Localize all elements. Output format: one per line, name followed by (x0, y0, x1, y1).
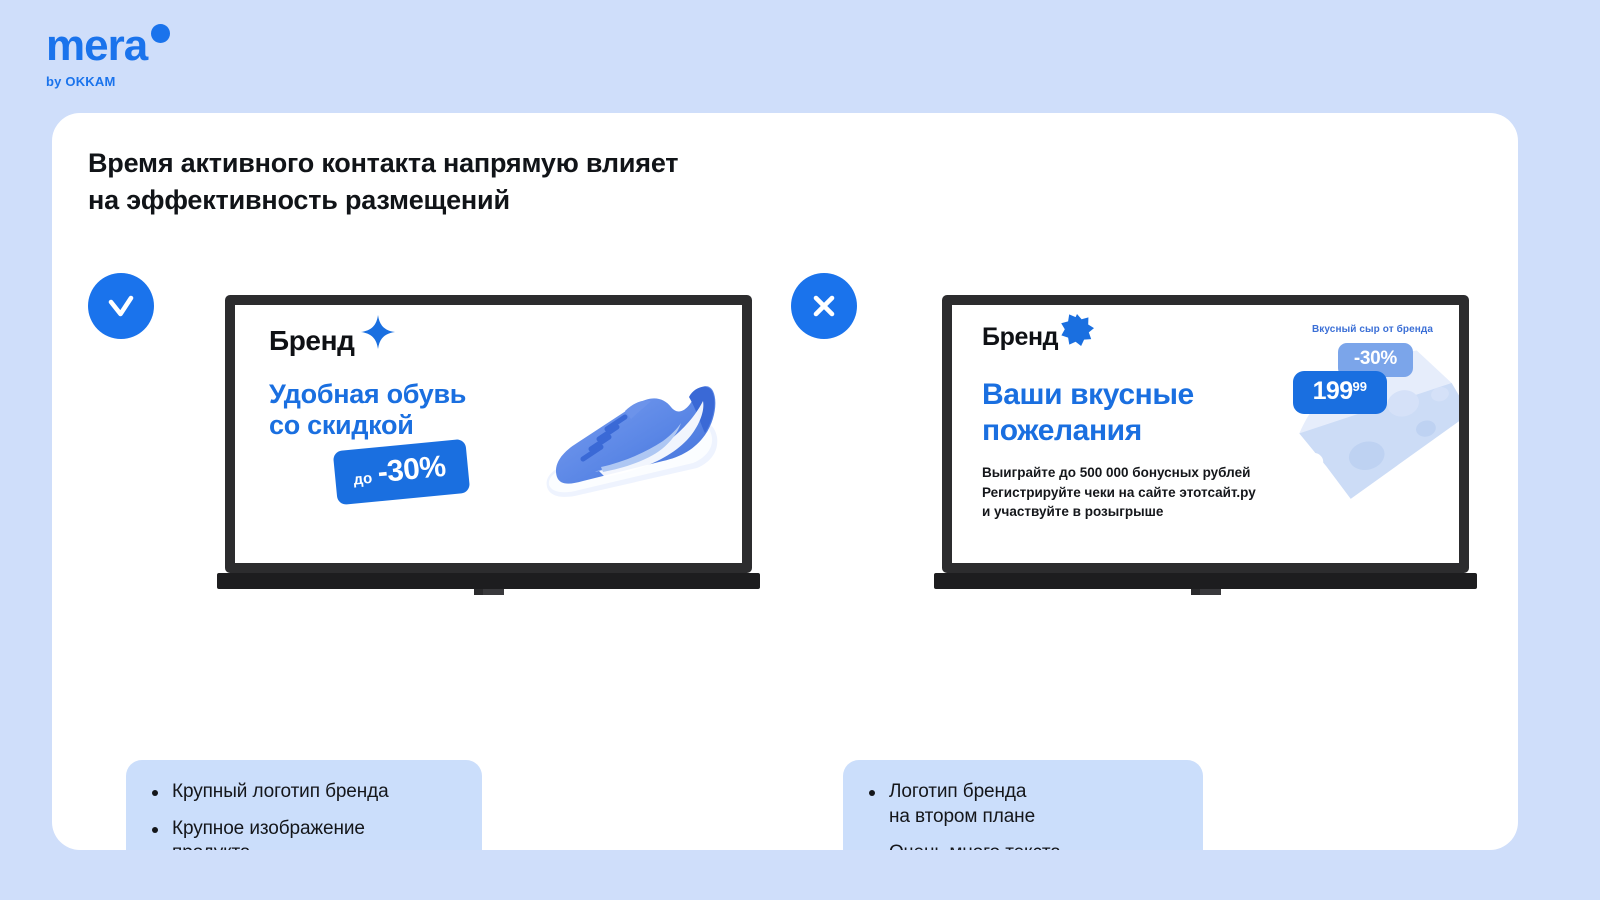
logo-wordmark: mera (46, 22, 266, 70)
creative-headline: Удобная обувь со скидкой (269, 379, 569, 442)
creative-brand-label: Бренд (982, 323, 1058, 352)
creative-brand-lockup: Бренд (982, 323, 1094, 352)
list-item: Крупный логотип бренда (148, 780, 456, 805)
sparkle-4-point-icon (359, 313, 397, 356)
price-integer: 199 (1313, 379, 1353, 404)
billboard-bad: Бренд Ваши вкусные пожелания Выиграйте д… (942, 295, 1469, 589)
billboard-frame: Бренд Удобная обувь со скидкой до -30% (225, 295, 752, 573)
billboard-screen-good: Бренд Удобная обувь со скидкой до -30% (235, 305, 742, 563)
notes-bad: Логотип бренда на втором плане Очень мно… (843, 760, 1203, 850)
creative-price-badge: 199 99 (1293, 371, 1387, 414)
creative-bad: Бренд Ваши вкусные пожелания Выиграйте д… (952, 305, 1459, 563)
page-title: Время активного контакта напрямую влияет… (88, 145, 928, 220)
list-item: Логотип бренда на втором плане (865, 780, 1177, 829)
check-icon (88, 273, 154, 339)
creative-brand-label: Бренд (269, 325, 355, 357)
cross-icon (791, 273, 857, 339)
list-item: Очень много текста (865, 841, 1177, 850)
billboard-screen-bad: Бренд Ваши вкусные пожелания Выиграйте д… (952, 305, 1459, 563)
list-item: Крупное изображение продукта (148, 817, 456, 850)
creative-good: Бренд Удобная обувь со скидкой до -30% (235, 305, 742, 563)
notes-good: Крупный логотип бренда Крупное изображен… (126, 760, 482, 850)
billboard-base (934, 573, 1477, 589)
creative-body-text: Выиграйте до 500 000 бонусных рублей Рег… (982, 463, 1312, 522)
billboard-good: Бренд Удобная обувь со скидкой до -30% (225, 295, 752, 589)
creative-caption: Вкусный сыр от бренда (1312, 324, 1433, 335)
notes-list-good: Крупный логотип бренда Крупное изображен… (148, 780, 456, 850)
content-card: Время активного контакта напрямую влияет… (52, 113, 1518, 850)
creative-discount-badge: до -30% (333, 439, 470, 505)
creative-brand-lockup: Бренд (269, 325, 397, 357)
sneaker-illustration (539, 367, 724, 517)
burst-star-icon (1060, 313, 1094, 352)
creative-headline: Ваши вкусные пожелания (982, 377, 1282, 449)
price-cents: 99 (1353, 380, 1367, 393)
billboard-frame: Бренд Ваши вкусные пожелания Выиграйте д… (942, 295, 1469, 573)
discount-badge-value: -30% (376, 450, 447, 490)
logo-wordmark-text: mera (46, 22, 147, 70)
logo-byline: by OKKAM (46, 74, 266, 89)
billboard-base (217, 573, 760, 589)
discount-badge-prefix: до (353, 470, 373, 489)
notes-list-bad: Логотип бренда на втором плане Очень мно… (865, 780, 1177, 850)
brand-logo: mera by OKKAM (46, 22, 266, 94)
logo-dot-icon (151, 24, 170, 43)
